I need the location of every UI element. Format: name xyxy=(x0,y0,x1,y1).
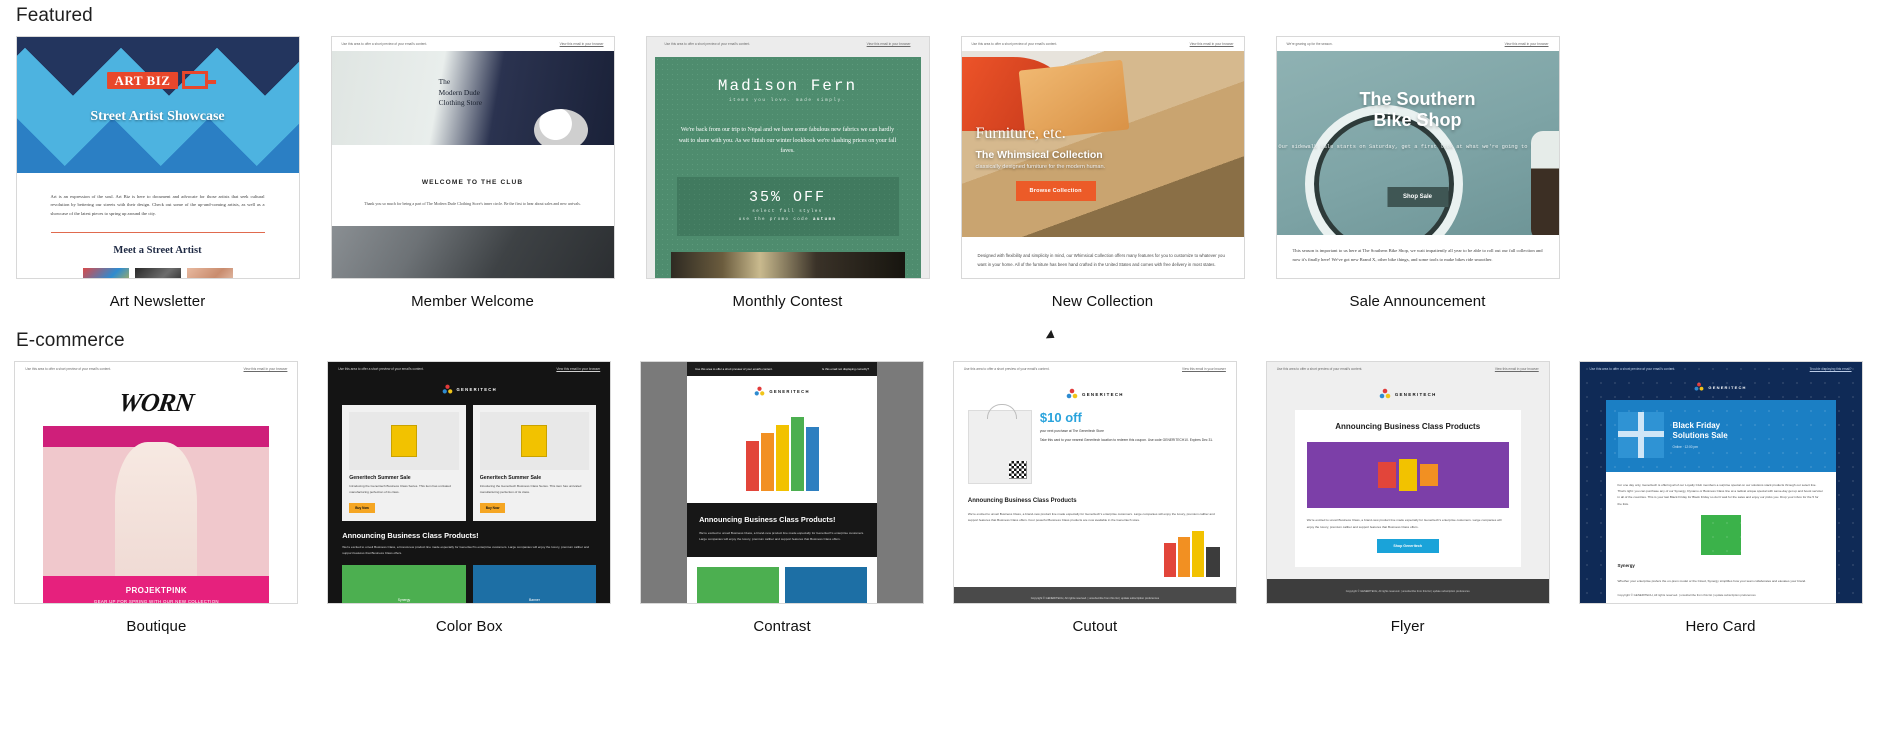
boutique-hero-photo xyxy=(43,426,269,576)
bike-body-copy: This season is important to us here at T… xyxy=(1277,235,1559,265)
footer-links[interactable]: Copyright © GENERITECH, All rights reser… xyxy=(1606,584,1836,603)
view-in-browser-link[interactable]: View this email in your browser xyxy=(560,42,604,46)
template-label: Hero Card xyxy=(1686,618,1756,635)
tile-synergy[interactable]: Synergy xyxy=(697,567,779,604)
hero-card-canvas: Use this area to offer a short preview o… xyxy=(1580,362,1862,603)
member-hero-title: TheModern DudeClothing Store xyxy=(439,77,482,109)
footer-links[interactable]: Copyright © GENERITECH, All rights reser… xyxy=(954,587,1236,604)
template-thumbnail-art-newsletter[interactable]: ART BIZ Street Artist Showcase Art is an… xyxy=(16,36,300,279)
section-title-ecommerce: E-commerce xyxy=(16,330,125,352)
template-label: Boutique xyxy=(126,618,186,635)
view-in-browser-link[interactable]: View this email in your browser xyxy=(556,367,600,371)
template-label: Sale Announcement xyxy=(1350,293,1486,310)
view-in-browser-link[interactable]: Trouble displaying this email? xyxy=(1810,367,1852,371)
art-hero-image: ART BIZ Street Artist Showcase xyxy=(17,37,299,173)
ecommerce-template-row: Use this area to offer a short preview o… xyxy=(0,361,1877,635)
section-title-featured: Featured xyxy=(16,5,93,27)
generitech-logo-text: GENERITECH xyxy=(769,389,809,394)
generitech-logo-text: GENERITECH xyxy=(1708,385,1746,390)
view-in-browser-link[interactable]: View this email in your browser xyxy=(1505,42,1549,46)
template-tile-boutique[interactable]: Use this area to offer a short preview o… xyxy=(0,361,313,635)
contrast-inner: Use this area to offer a short preview o… xyxy=(687,362,877,603)
product-heading: Generitech Summer Sale xyxy=(480,475,590,481)
shop-sale-button[interactable]: Shop Sale xyxy=(1387,187,1448,207)
preheader-bar: Use this area to offer a short preview o… xyxy=(332,37,614,51)
color-box-grid: Generitech Summer Sale Introducing the G… xyxy=(328,405,610,521)
view-in-browser-link[interactable]: Is this email not displaying correctly? xyxy=(822,367,869,371)
tile-banner[interactable]: Banner xyxy=(785,567,867,604)
member-body-copy: Thank you so much for being a part of Th… xyxy=(332,200,614,208)
member-hero-image: TheModern DudeClothing Store xyxy=(332,51,614,145)
template-tile-monthly-contest[interactable]: Use this area to offer a short preview o… xyxy=(630,36,945,310)
offer-line-2: use the promo code autumn xyxy=(685,218,891,222)
product-heading: Generitech Summer Sale xyxy=(349,475,459,481)
gift-box-icon xyxy=(1618,412,1664,458)
offer-amount: 35% OFF xyxy=(685,189,891,206)
divider xyxy=(51,232,265,233)
flyer-card: Announcing Business Class Products We're… xyxy=(1295,410,1521,567)
qr-code-icon xyxy=(1009,461,1027,479)
preheader-text: Use this area to offer a short preview o… xyxy=(1590,367,1676,371)
hero-banner: Black FridaySolutions Sale Online · 12:0… xyxy=(1606,400,1836,472)
sub-heading: Synergy xyxy=(1606,555,1836,568)
member-footer-image xyxy=(332,226,614,279)
announcement-title: Announcing Business Class Products xyxy=(1307,422,1509,432)
preheader-bar: Use this area to offer a short preview o… xyxy=(655,37,921,51)
featured-template-row: ART BIZ Street Artist Showcase Art is an… xyxy=(0,36,1877,310)
product-image xyxy=(349,412,459,470)
bike-hero-subtitle: Our sidewalk sale starts on Saturday, ge… xyxy=(1277,143,1559,152)
product-lineup-image xyxy=(954,523,1236,577)
generitech-mark-icon xyxy=(1694,382,1704,392)
template-label: Art Newsletter xyxy=(110,293,206,310)
view-in-browser-link[interactable]: View this email in your browser xyxy=(244,367,288,371)
preheader-bar: Use this area to offer a short preview o… xyxy=(954,362,1236,376)
monthly-contest-panel: Madison Fern items you love. made simply… xyxy=(655,57,921,279)
contest-photo xyxy=(671,252,905,280)
generitech-logo-text: GENERITECH xyxy=(457,387,497,392)
color-box-canvas: Use this area to offer a short preview o… xyxy=(328,362,610,603)
art-biz-logo-text: ART BIZ xyxy=(107,72,179,89)
preheader-bar: Use this area to offer a short preview o… xyxy=(962,37,1244,51)
shopping-bag-image xyxy=(968,410,1032,484)
preheader-bar: We're gearing up for the season. View th… xyxy=(1277,37,1559,51)
product-body: Introducing the Generitech Business Clas… xyxy=(349,484,459,496)
product-stack-image xyxy=(687,409,877,491)
collection-body-copy: Designed with flexibility and simplicity… xyxy=(962,237,1244,269)
announcement-body: We're excited to unveil Business Class, … xyxy=(342,544,596,556)
hero-subtitle: Online · 12:00 pm xyxy=(1673,445,1728,449)
template-tile-new-collection[interactable]: Use this area to offer a short preview o… xyxy=(945,36,1260,310)
monthly-contest-canvas: Use this area to offer a short preview o… xyxy=(647,37,929,278)
template-thumbnail-hero-card[interactable]: Use this area to offer a short preview o… xyxy=(1579,361,1863,604)
generitech-logo: GENERITECH xyxy=(1580,376,1862,400)
preheader-bar: Use this area to offer a short preview o… xyxy=(687,362,877,376)
collection-hero-image: Furniture, etc. The Whimsical Collection… xyxy=(962,51,1244,237)
preheader-text: Use this area to offer a short preview o… xyxy=(972,42,1058,46)
generitech-mark-icon xyxy=(442,384,453,395)
view-in-browser-link[interactable]: View this email in your browser xyxy=(1182,367,1226,371)
offer-note: Take this card to your nearest Generitec… xyxy=(1040,437,1222,443)
template-tile-member-welcome[interactable]: Use this area to offer a short preview o… xyxy=(315,36,630,310)
offer-subtitle: your next purchase at The Generitech Sto… xyxy=(1040,428,1222,434)
welcome-heading: WELCOME TO THE CLUB xyxy=(332,179,614,186)
buy-now-button[interactable]: Buy Now xyxy=(349,503,375,513)
template-label: Flyer xyxy=(1391,618,1425,635)
template-label: Monthly Contest xyxy=(733,293,843,310)
product-artwork xyxy=(1307,442,1509,508)
art-thumbnail-strip xyxy=(17,268,299,279)
template-label: Member Welcome xyxy=(411,293,534,310)
announcement-body: We're excited to unveil Business Class, … xyxy=(699,530,865,542)
collection-hero-title: Furniture, etc. xyxy=(976,125,1066,143)
generitech-mark-icon xyxy=(1066,388,1078,400)
template-tile-color-box[interactable]: Use this area to offer a short preview o… xyxy=(313,361,626,635)
art-biz-logo: ART BIZ xyxy=(107,71,209,89)
template-tile-hero-card[interactable]: Use this area to offer a short preview o… xyxy=(1564,361,1877,635)
shop-generitech-button[interactable]: Shop Generitech xyxy=(1377,539,1439,553)
footer-links[interactable]: Copyright © GENERITECH, All rights reser… xyxy=(1267,579,1549,604)
template-tile-flyer[interactable]: Use this area to offer a short preview o… xyxy=(1251,361,1564,635)
template-label: New Collection xyxy=(1052,293,1153,310)
preheader-bar: Use this area to offer a short preview o… xyxy=(15,362,297,376)
product-card[interactable]: Generitech Summer Sale Introducing the G… xyxy=(342,405,466,521)
announcement-block: Announcing Business Class Products! We'r… xyxy=(328,521,610,556)
art-thumb-1 xyxy=(83,268,129,279)
template-label: Cutout xyxy=(1073,618,1118,635)
banner-subtitle: GEAR UP FOR SPRING WITH OUR NEW COLLECTI… xyxy=(43,599,269,604)
collection-hero-tagline: classically designed furniture for the m… xyxy=(976,164,1106,170)
contest-body-copy: We're back from our trip to Nepal and we… xyxy=(671,125,905,157)
preheader-text: Use this area to offer a short preview o… xyxy=(1277,367,1363,371)
generitech-logo: GENERITECH xyxy=(1267,376,1549,410)
collection-hero-subtitle: The Whimsical Collection xyxy=(976,149,1103,161)
art-body-copy: Art is an expression of the soul. Art Bi… xyxy=(17,173,299,218)
template-thumbnail-member-welcome[interactable]: Use this area to offer a short preview o… xyxy=(331,36,615,279)
product-card[interactable]: Generitech Summer Sale Introducing the G… xyxy=(473,405,597,521)
product-image xyxy=(1701,515,1741,555)
template-tile-sale-announcement[interactable]: We're gearing up for the season. View th… xyxy=(1260,36,1575,310)
template-thumbnail-contrast[interactable]: Use this area to offer a short preview o… xyxy=(640,361,924,604)
brand-tagline: items you love. made simply. xyxy=(671,98,905,103)
hero-title: Black FridaySolutions Sale xyxy=(1673,421,1728,441)
template-label: Color Box xyxy=(436,618,503,635)
offer-badge: 35% OFF select fall styles use the promo… xyxy=(677,177,899,236)
art-thumb-2 xyxy=(135,268,181,279)
preheader-text: Use this area to offer a short preview o… xyxy=(342,42,428,46)
mouse-cursor xyxy=(1046,330,1057,342)
product-tiles: Synergy Banner xyxy=(687,557,877,604)
coupon-row: $10 off your next purchase at The Generi… xyxy=(954,410,1236,484)
offer-line-1: select fall styles xyxy=(685,210,891,214)
generitech-mark-icon xyxy=(1379,388,1391,400)
template-tile-contrast[interactable]: Use this area to offer a short preview o… xyxy=(626,361,939,635)
generitech-logo: GENERITECH xyxy=(687,376,877,409)
bike-hero-title: The SouthernBike Shop xyxy=(1277,89,1559,130)
worn-logo: WORN xyxy=(14,376,298,426)
banner-title: PROJEKTPINK xyxy=(43,586,269,595)
sub-body-copy: Whether your enterprise prefers the on-p… xyxy=(1606,568,1836,584)
preheader-bar: Use this area to offer a short preview o… xyxy=(1580,362,1862,376)
generitech-logo-text: GENERITECH xyxy=(1395,392,1437,397)
generitech-logo: GENERITECH xyxy=(328,376,610,405)
generitech-mark-icon xyxy=(754,386,765,397)
announcement-title: Announcing Business Class Products! xyxy=(699,515,865,524)
announcement-body: We're excited to unveil Business Class, … xyxy=(1307,517,1509,529)
product-tiles: Synergy Banner xyxy=(328,556,610,604)
offer-code-prefix: use the promo code xyxy=(739,218,813,222)
template-thumbnail-sale-announcement[interactable]: We're gearing up for the season. View th… xyxy=(1276,36,1560,279)
preheader-bar: Use this area to offer a short preview o… xyxy=(328,362,610,376)
product-body: Introducing the Generitech Business Clas… xyxy=(480,484,590,496)
preheader-text: Use this area to offer a short preview o… xyxy=(665,42,751,46)
view-in-browser-link[interactable]: View this email in your browser xyxy=(867,42,911,46)
offer-amount: $10 off xyxy=(1040,410,1222,425)
tile-synergy[interactable]: Synergy xyxy=(342,565,466,604)
preheader-text: Use this area to offer a short preview o… xyxy=(25,367,111,371)
view-in-browser-link[interactable]: View this email in your browser xyxy=(1190,42,1234,46)
hero-card-body: Black FridaySolutions Sale Online · 12:0… xyxy=(1606,400,1836,603)
bike-hero-image: The SouthernBike Shop Our sidewalk sale … xyxy=(1277,51,1559,235)
art-hero-title: Street Artist Showcase xyxy=(17,109,299,125)
generitech-logo-text: GENERITECH xyxy=(1082,392,1124,397)
tile-banner[interactable]: Banner xyxy=(473,565,597,604)
offer-code: autumn xyxy=(813,218,836,222)
art-subheading: Meet a Street Artist xyxy=(17,245,299,256)
template-thumbnail-new-collection[interactable]: Use this area to offer a short preview o… xyxy=(961,36,1245,279)
brand-title: Madison Fern xyxy=(671,77,905,95)
boutique-banner: PROJEKTPINK GEAR UP FOR SPRING WITH OUR … xyxy=(43,576,269,604)
announcement-block: Announcing Business Class Products! We'r… xyxy=(687,503,877,557)
announcement-body: We're excited to unveil Business Class, … xyxy=(954,506,1236,523)
template-thumbnail-cutout[interactable]: Use this area to offer a short preview o… xyxy=(953,361,1237,604)
template-tile-cutout[interactable]: Use this area to offer a short preview o… xyxy=(938,361,1251,635)
preheader-text: Use this area to offer a short preview o… xyxy=(695,367,773,371)
template-gallery: Featured ART BIZ Street Artist Showcase … xyxy=(0,0,1877,749)
hero-body-copy: For one day only, Generitech is offering… xyxy=(1606,472,1836,507)
preheader-text: Use this area to offer a short preview o… xyxy=(338,367,424,371)
art-thumb-3 xyxy=(187,268,233,279)
template-tile-art-newsletter[interactable]: ART BIZ Street Artist Showcase Art is an… xyxy=(0,36,315,310)
product-image xyxy=(480,412,590,470)
flyer-canvas: Use this area to offer a short preview o… xyxy=(1267,362,1549,603)
template-thumbnail-color-box[interactable]: Use this area to offer a short preview o… xyxy=(327,361,611,604)
paint-brush-icon xyxy=(182,71,208,89)
preheader-bar: Use this area to offer a short preview o… xyxy=(1267,362,1549,376)
template-thumbnail-boutique[interactable]: Use this area to offer a short preview o… xyxy=(14,361,298,604)
template-label: Contrast xyxy=(753,618,811,635)
announcement-title: Announcing Business Class Products xyxy=(954,484,1236,506)
browse-collection-button[interactable]: Browse Collection xyxy=(1016,181,1096,201)
template-thumbnail-flyer[interactable]: Use this area to offer a short preview o… xyxy=(1266,361,1550,604)
template-thumbnail-monthly-contest[interactable]: Use this area to offer a short preview o… xyxy=(646,36,930,279)
preheader-text: Use this area to offer a short preview o… xyxy=(964,367,1050,371)
announcement-title: Announcing Business Class Products! xyxy=(342,531,596,540)
preheader-text: We're gearing up for the season. xyxy=(1287,42,1333,46)
view-in-browser-link[interactable]: View this email in your browser xyxy=(1495,367,1539,371)
buy-now-button[interactable]: Buy Now xyxy=(480,503,506,513)
contrast-canvas: Use this area to offer a short preview o… xyxy=(641,362,923,603)
